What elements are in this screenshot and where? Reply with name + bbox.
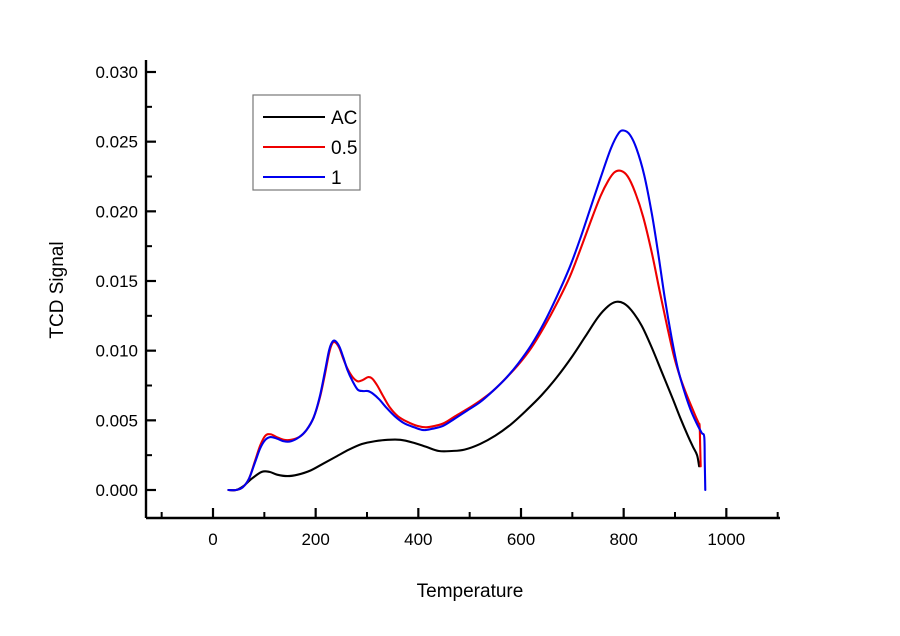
- legend-label-1: 1: [331, 168, 342, 189]
- y-tick-label: 0.025: [95, 133, 138, 152]
- x-axis-title: Temperature: [417, 581, 524, 602]
- y-tick-label: 0.030: [95, 63, 138, 82]
- legend-label-ac: AC: [331, 108, 357, 129]
- x-tick-label: 1000: [707, 530, 745, 549]
- x-tick-label: 600: [507, 530, 535, 549]
- y-axis-title: TCD Signal: [47, 241, 68, 338]
- y-tick-label: 0.020: [95, 202, 138, 221]
- legend: AC0.51: [253, 95, 360, 190]
- legend-label-0-5: 0.5: [331, 138, 357, 159]
- y-tick-label: 0.015: [95, 272, 138, 291]
- figure-background: [0, 0, 900, 636]
- y-tick-label: 0.000: [95, 481, 138, 500]
- y-tick-label: 0.010: [95, 342, 138, 361]
- y-tick-label: 0.005: [95, 411, 138, 430]
- tcd-signal-chart: 02004006008001000 0.0000.0050.0100.0150.…: [0, 0, 900, 636]
- x-tick-label: 400: [404, 530, 432, 549]
- x-tick-label: 800: [609, 530, 637, 549]
- x-tick-label: 200: [301, 530, 329, 549]
- x-tick-label: 0: [208, 530, 217, 549]
